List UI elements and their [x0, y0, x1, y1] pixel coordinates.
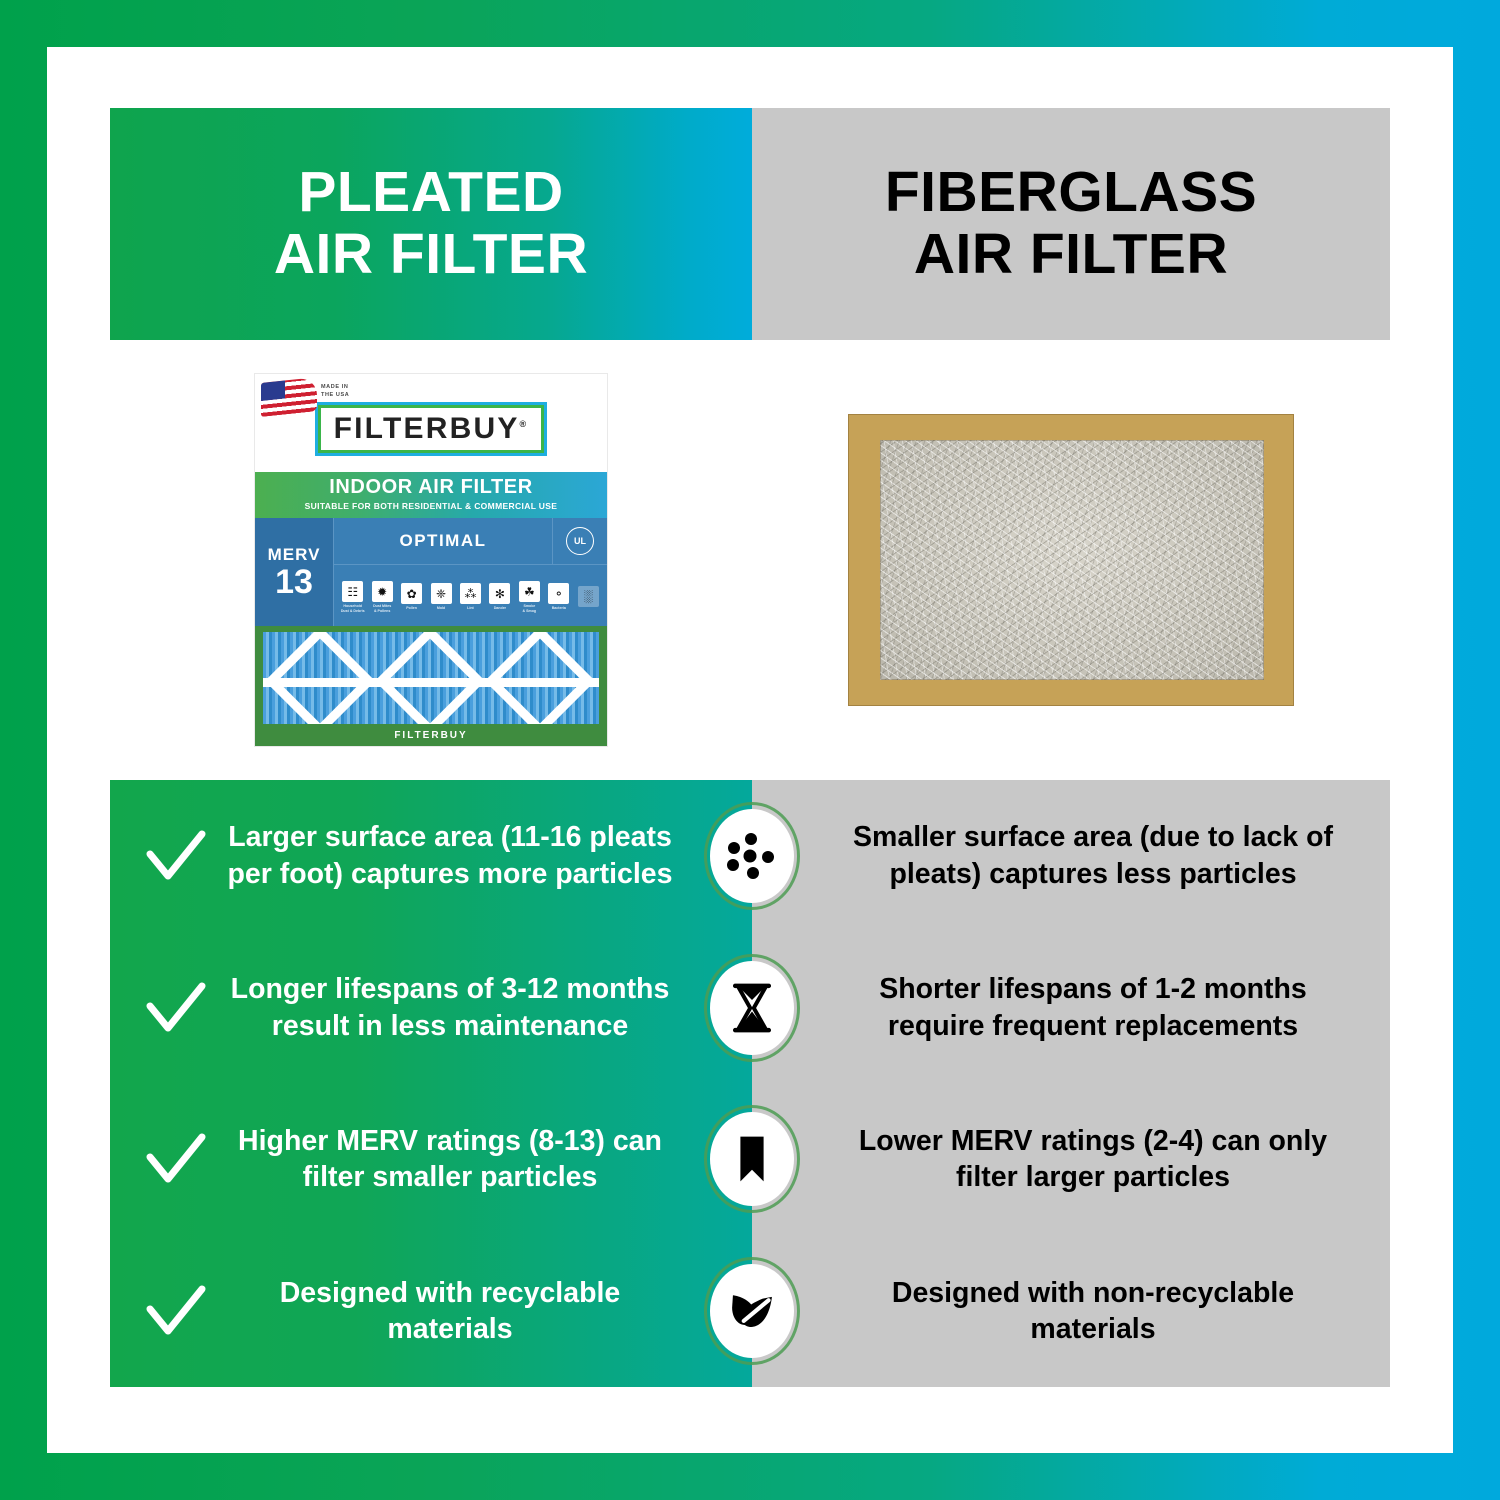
capture-icon-label: Household Dust & Debris [341, 604, 365, 613]
bacteria-icon: ⚬ [548, 583, 569, 604]
feature-text-pleated: Larger surface area (11-16 pleats per fo… [216, 819, 752, 892]
feature-text-pleated: Longer lifespans of 3-12 months result i… [216, 971, 752, 1044]
checkmark-icon [140, 820, 212, 892]
feature-row: Designed with recyclable materials Desig… [110, 1235, 1390, 1387]
registered-mark-icon: ® [520, 419, 529, 429]
package-banner-title: INDOOR AIR FILTER [255, 476, 607, 499]
usa-flag-icon [261, 377, 317, 417]
capture-icon-label: Dander [494, 606, 506, 610]
ul-certification: UL [552, 518, 607, 564]
merv-value: 13 [275, 565, 313, 599]
hourglass-icon [704, 954, 800, 1062]
header-panel-fiberglass: FIBERGLASS AIR FILTER [752, 108, 1390, 340]
fiberglass-filter-image [848, 414, 1294, 706]
infographic-page: PLEATED AIR FILTER FIBERGLASS AIR FILTER… [0, 0, 1500, 1500]
capture-icon-item: ✿ Pollen [399, 583, 424, 610]
checkmark-icon [140, 972, 212, 1044]
package-header: MADE IN THE USA FILTERBUY® [255, 374, 607, 472]
package-footer-brand: FILTERBUY [255, 724, 607, 746]
package-tier-label: OPTIMAL [334, 518, 552, 564]
mold-icon: ❈ [431, 583, 452, 604]
support-diamond [375, 626, 485, 736]
header-title-pleated: PLEATED AIR FILTER [274, 162, 588, 285]
feature-text-fiberglass: Shorter lifespans of 1-2 months require … [832, 971, 1354, 1044]
capture-icon-label: Lint [467, 606, 474, 610]
capture-icon-item: ☘ Smoke & Smog [517, 581, 542, 613]
support-diamond [485, 626, 595, 736]
inactive-icon: ░ [578, 586, 599, 607]
leaf-icon [704, 1257, 800, 1365]
ul-certification-icon: UL [566, 527, 594, 555]
dander-icon: ✻ [489, 583, 510, 604]
merv-badge: MERV 13 [255, 518, 334, 626]
capture-icon-item: ⁂ Lint [458, 583, 483, 610]
merv-label: MERV [268, 545, 321, 565]
capture-icon-label: Pollen [406, 606, 417, 610]
feature-text-pleated: Higher MERV ratings (8-13) can filter sm… [216, 1123, 752, 1196]
checkmark-icon [140, 1123, 212, 1195]
bookmark-icon [704, 1105, 800, 1213]
package-spec-area: MERV 13 OPTIMAL UL [255, 518, 607, 626]
package-capture-icons: ☷ Household Dust & Debris ✹ Dust Mites &… [334, 565, 607, 626]
capture-icon-label: Smoke & Smog [523, 604, 537, 613]
header-panel-pleated: PLEATED AIR FILTER [110, 108, 752, 340]
fiberglass-mesh [880, 440, 1264, 680]
product-cell-fiberglass [752, 340, 1390, 780]
feature-text-fiberglass: Lower MERV ratings (2-4) can only filter… [832, 1123, 1354, 1196]
feature-right-fiberglass: Smaller surface area (due to lack of ple… [752, 780, 1390, 932]
feature-row: Higher MERV ratings (8-13) can filter sm… [110, 1084, 1390, 1236]
brand-logo-label: FILTERBUY [334, 412, 520, 445]
capture-icon-item: ⚬ Bacteria [546, 583, 571, 610]
brand-logo-text: FILTERBUY® [334, 412, 529, 446]
feature-text-fiberglass: Designed with non-recyclable materials [832, 1275, 1354, 1348]
feature-row: Larger surface area (11-16 pleats per fo… [110, 780, 1390, 932]
capture-icon-label: Mold [437, 606, 445, 610]
package-spec-right: OPTIMAL UL ☷ Household Dust & Debris [334, 518, 607, 626]
package-banner-subtitle: SUITABLE FOR BOTH RESIDENTIAL & COMMERCI… [255, 501, 607, 511]
product-cell-pleated: MADE IN THE USA FILTERBUY® INDOOR AIR FI… [110, 340, 752, 780]
capture-icon-item: ✻ Dander [487, 583, 512, 610]
comparison-header: PLEATED AIR FILTER FIBERGLASS AIR FILTER [110, 108, 1390, 340]
feature-row: Longer lifespans of 3-12 months result i… [110, 932, 1390, 1084]
checkmark-icon [140, 1275, 212, 1347]
feature-left-pleated: Larger surface area (11-16 pleats per fo… [110, 780, 752, 932]
feature-left-pleated: Designed with recyclable materials [110, 1235, 752, 1387]
feature-left-pleated: Higher MERV ratings (8-13) can filter sm… [110, 1084, 752, 1236]
capture-icon-item: ✹ Dust Mites & Pollens [369, 581, 394, 613]
pleated-filter-package-image: MADE IN THE USA FILTERBUY® INDOOR AIR FI… [255, 374, 607, 746]
header-title-fiberglass: FIBERGLASS AIR FILTER [885, 162, 1257, 285]
feature-left-pleated: Longer lifespans of 3-12 months result i… [110, 932, 752, 1084]
support-diamond [265, 626, 375, 736]
infographic-canvas: PLEATED AIR FILTER FIBERGLASS AIR FILTER… [47, 47, 1453, 1453]
capture-icon-item-disabled: ░ [576, 586, 601, 609]
capture-icon-label: Bacteria [552, 606, 566, 610]
capture-icon-label: Dust Mites & Pollens [373, 604, 391, 613]
household-dust-icon: ☷ [342, 581, 363, 602]
feature-text-pleated: Designed with recyclable materials [216, 1275, 752, 1348]
feature-right-fiberglass: Shorter lifespans of 1-2 months require … [752, 932, 1390, 1084]
package-tier-row: OPTIMAL UL [334, 518, 607, 565]
capture-icon-item: ❈ Mold [428, 583, 453, 610]
product-image-row: MADE IN THE USA FILTERBUY® INDOOR AIR FI… [110, 340, 1390, 780]
lint-icon: ⁂ [460, 583, 481, 604]
package-banner: INDOOR AIR FILTER SUITABLE FOR BOTH RESI… [255, 472, 607, 518]
capture-icon-item: ☷ Household Dust & Debris [340, 581, 365, 613]
feature-right-fiberglass: Lower MERV ratings (2-4) can only filter… [752, 1084, 1390, 1236]
particles-icon [704, 802, 800, 910]
pollen-icon: ✿ [401, 583, 422, 604]
made-in-usa-text: MADE IN THE USA [321, 383, 349, 400]
feature-right-fiberglass: Designed with non-recyclable materials [752, 1235, 1390, 1387]
brand-logo-frame: FILTERBUY® [315, 402, 548, 456]
feature-comparison-list: Larger surface area (11-16 pleats per fo… [110, 780, 1390, 1387]
feature-text-fiberglass: Smaller surface area (due to lack of ple… [832, 819, 1354, 892]
smoke-smog-icon: ☘ [519, 581, 540, 602]
dust-mites-icon: ✹ [372, 581, 393, 602]
